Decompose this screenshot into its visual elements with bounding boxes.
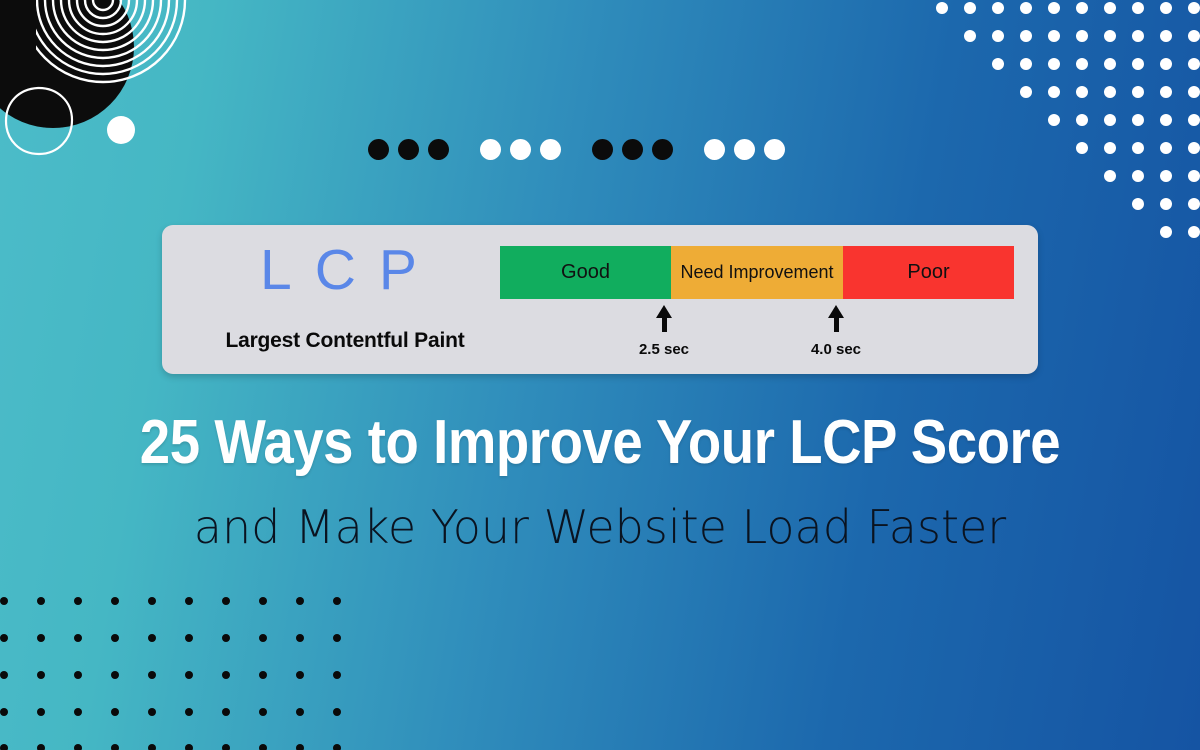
up-arrow-icon (656, 305, 672, 318)
dot-2 (398, 139, 419, 160)
scale-segment-good: Good (500, 246, 671, 299)
dot-1 (368, 139, 389, 160)
white-dot-decoration (107, 116, 135, 144)
dot-3 (428, 139, 449, 160)
arrow-stem (662, 318, 667, 332)
dot-group-gap (570, 149, 583, 150)
banner-headline: 25 Ways to Improve Your LCP Score (72, 412, 1128, 474)
dot-7 (592, 139, 613, 160)
dot-8 (622, 139, 643, 160)
threshold-marker-2-5-sec: 2.5 sec (624, 305, 704, 358)
threshold-label-poor: 4.0 sec (796, 341, 876, 358)
concentric-rings-decoration (36, 0, 226, 128)
top-right-dot-grid-decoration (930, 0, 1200, 250)
lcp-full-name: Largest Contentful Paint (190, 329, 500, 353)
hand-drawn-circle-outline-decoration (4, 86, 74, 156)
arrow-stem (834, 318, 839, 332)
threshold-label-good: 2.5 sec (624, 341, 704, 358)
lcp-abbreviation: LCP (200, 242, 500, 299)
dot-10 (704, 139, 725, 160)
up-arrow-icon (828, 305, 844, 318)
threshold-marker-4-0-sec: 4.0 sec (796, 305, 876, 358)
lcp-promo-banner: LCP Largest Contentful Paint Good Need I… (0, 0, 1200, 750)
dot-4 (480, 139, 501, 160)
dot-group-gap (458, 149, 471, 150)
dot-6 (540, 139, 561, 160)
dot-12 (764, 139, 785, 160)
banner-subheadline: and Make Your Website Load Faster (0, 502, 1200, 553)
lcp-metric-card: LCP Largest Contentful Paint Good Need I… (162, 225, 1038, 374)
dot-row-decoration (368, 139, 785, 160)
scale-segment-poor: Poor (843, 246, 1014, 299)
lcp-threshold-scale-bar: Good Need Improvement Poor (500, 246, 1014, 299)
black-circle-decoration (0, 0, 134, 128)
dot-9 (652, 139, 673, 160)
bottom-left-dot-grid-decoration (0, 590, 345, 750)
dot-group-gap (682, 149, 695, 150)
scale-segment-need-improvement: Need Improvement (671, 246, 843, 299)
dot-11 (734, 139, 755, 160)
dot-5 (510, 139, 531, 160)
